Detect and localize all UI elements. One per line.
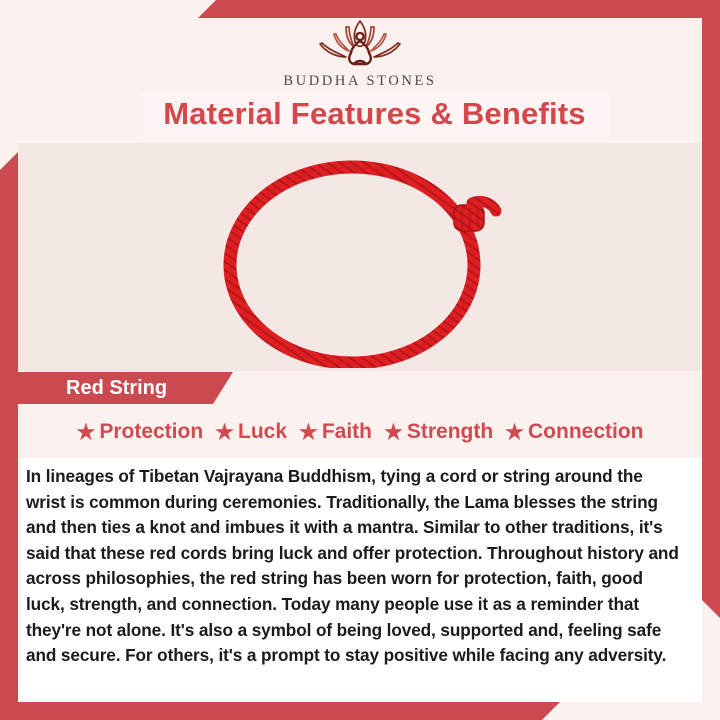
benefit-label: Strength [407,420,493,444]
infographic-page: BUDDHA STONES Material Features & Benefi… [0,0,720,720]
frame-bar-right [702,0,720,618]
benefit-label: Connection [528,420,644,444]
benefit-label: Luck [238,420,287,444]
title-banner: Material Features & Benefits [140,91,609,137]
brand-name: BUDDHA STONES [0,73,720,90]
benefit-item-strength: ★ Strength [378,420,499,444]
product-image [210,153,510,371]
star-icon: ★ [215,422,234,443]
red-string-bracelet-illustration [210,153,510,368]
product-image-area [18,143,702,371]
benefit-item-protection: ★ Protection [71,420,210,444]
product-name-label: Red String [66,377,167,400]
benefits-list: ★ Protection ★ Luck ★ Faith ★ Strength ★… [0,420,720,444]
product-name-banner: Red String [18,372,233,404]
description-text: In lineages of Tibetan Vajrayana Buddhis… [26,464,682,669]
benefit-label: Protection [99,420,203,444]
star-icon: ★ [384,422,403,443]
page-title: Material Features & Benefits [163,96,586,132]
brand-logo: BUDDHA STONES [0,14,720,90]
benefit-item-faith: ★ Faith [293,420,378,444]
star-icon: ★ [299,422,318,443]
benefit-label: Faith [322,420,372,444]
bracelet-knot [454,205,484,231]
benefit-item-luck: ★ Luck [209,420,293,444]
star-icon: ★ [505,422,524,443]
star-icon: ★ [77,422,96,443]
description-panel: In lineages of Tibetan Vajrayana Buddhis… [18,458,702,702]
benefit-item-connection: ★ Connection [499,420,649,444]
lotus-meditation-icon [308,14,412,70]
frame-bar-bottom [0,702,560,720]
